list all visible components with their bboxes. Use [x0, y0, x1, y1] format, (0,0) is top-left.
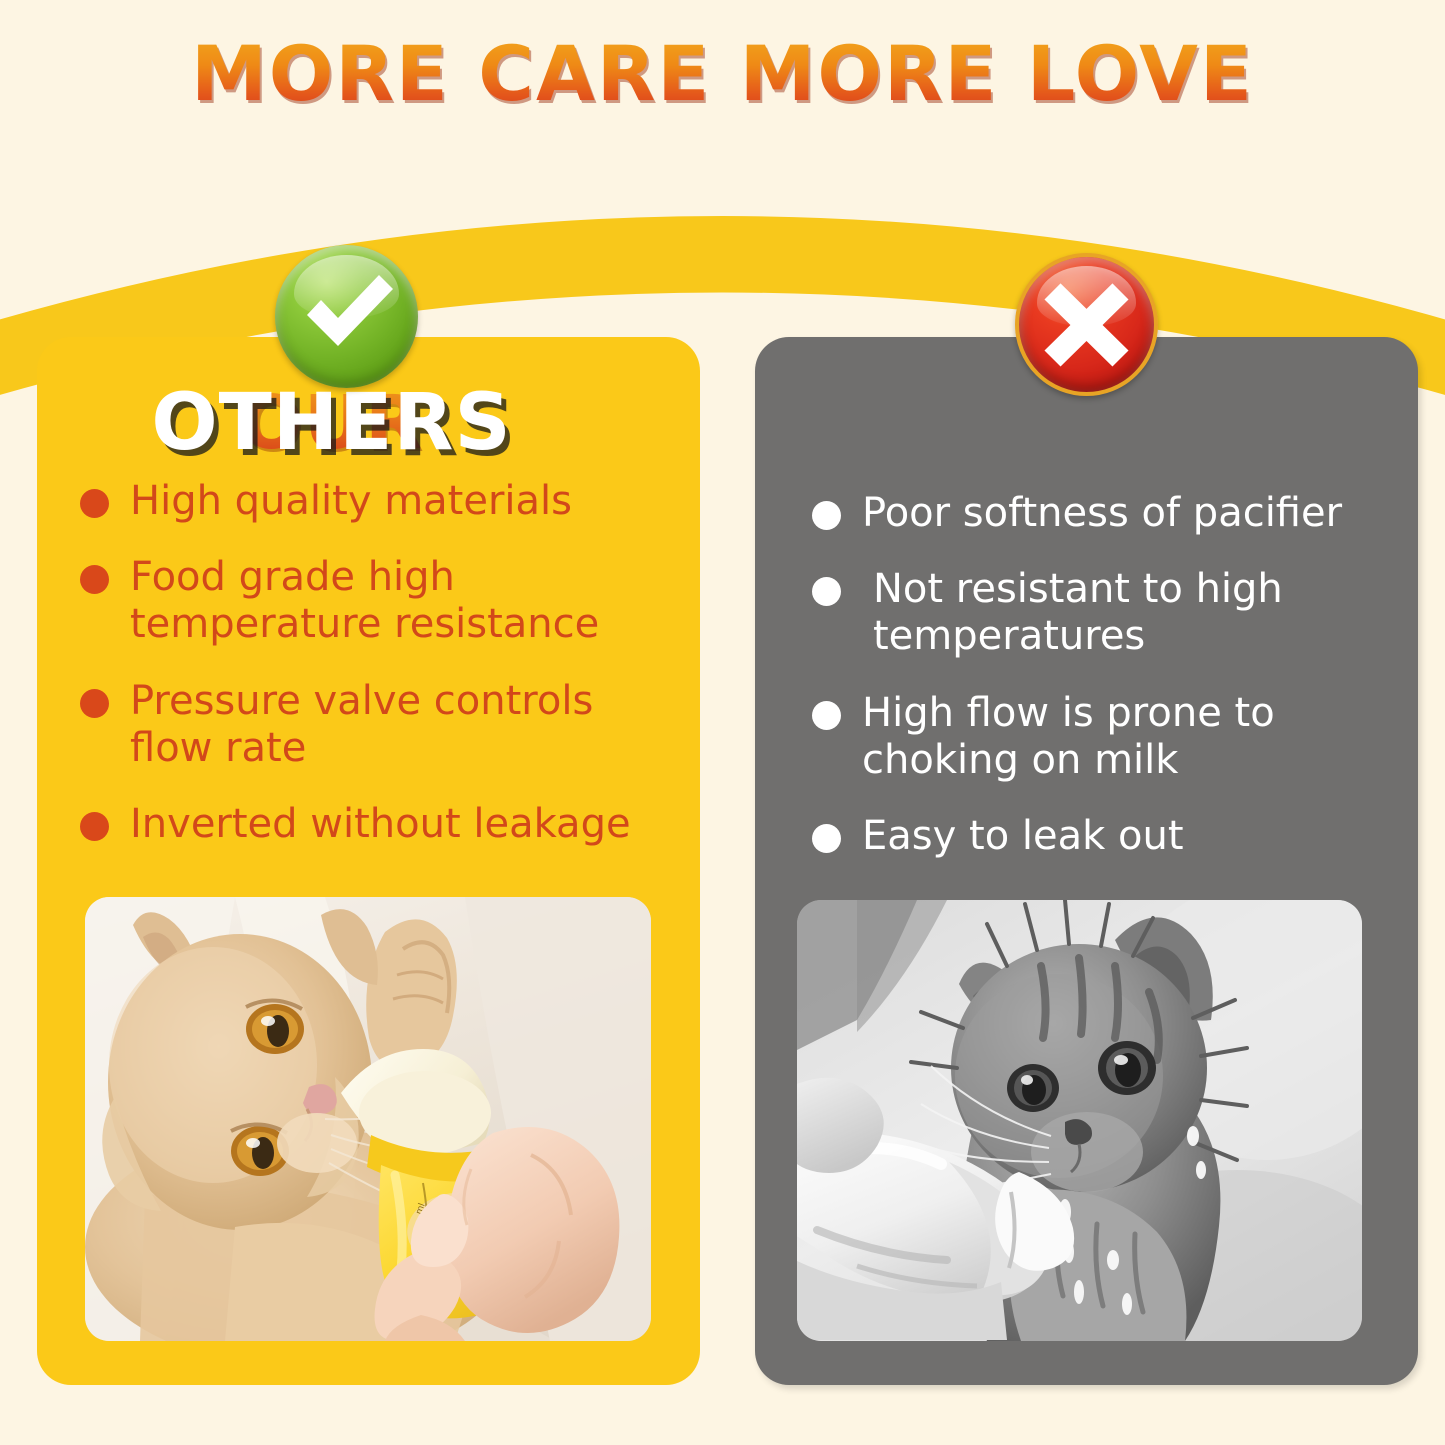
- bullet-text: Poor softness of pacifier: [862, 490, 1342, 537]
- our-product-photo: ml 10 5: [85, 897, 651, 1341]
- bullet-text: Pressure valve controls flow rate: [130, 678, 680, 772]
- list-item: Inverted without leakage: [80, 801, 680, 848]
- x-mark-icon: [1019, 257, 1154, 392]
- bullet-text: Easy to leak out: [862, 813, 1184, 860]
- list-item: Poor softness of pacifier: [812, 490, 1412, 537]
- list-item: Pressure valve controls flow rate: [80, 678, 680, 772]
- others-heading: OTHERS: [0, 378, 663, 468]
- bullet-text: High quality materials: [130, 478, 572, 525]
- bullet-dot-icon: [812, 501, 841, 530]
- list-item: Easy to leak out: [812, 813, 1412, 860]
- page-title: MORE CARE MORE LOVE: [0, 36, 1445, 112]
- cross-circle-icon: [1015, 253, 1158, 396]
- bullet-text: High flow is prone to choking on milk: [862, 690, 1412, 784]
- check-circle-icon: [275, 245, 418, 388]
- bullet-dot-icon: [80, 812, 109, 841]
- check-mark-icon: [275, 245, 418, 388]
- list-item: Not resistant to high temperatures: [812, 566, 1412, 660]
- bullet-text: Inverted without leakage: [130, 801, 631, 848]
- bullet-text: Not resistant to high temperatures: [862, 566, 1412, 660]
- bullet-dot-icon: [80, 689, 109, 718]
- list-item: High quality materials: [80, 478, 680, 525]
- bullet-dot-icon: [812, 577, 841, 606]
- kitten-feeding-color-image: ml 10 5: [85, 897, 651, 1341]
- list-item: Food grade high temperature resistance: [80, 554, 680, 648]
- bullet-dot-icon: [80, 565, 109, 594]
- bullet-dot-icon: [812, 824, 841, 853]
- bullet-text: Food grade high temperature resistance: [130, 554, 680, 648]
- bullet-dot-icon: [80, 489, 109, 518]
- kitten-feeding-grayscale-image: [797, 900, 1362, 1341]
- others-bullet-list: Poor softness of pacifier Not resistant …: [812, 490, 1412, 889]
- bullet-dot-icon: [812, 701, 841, 730]
- others-product-photo: [797, 900, 1362, 1341]
- list-item: High flow is prone to choking on milk: [812, 690, 1412, 784]
- our-bullet-list: High quality materials Food grade high t…: [80, 478, 680, 877]
